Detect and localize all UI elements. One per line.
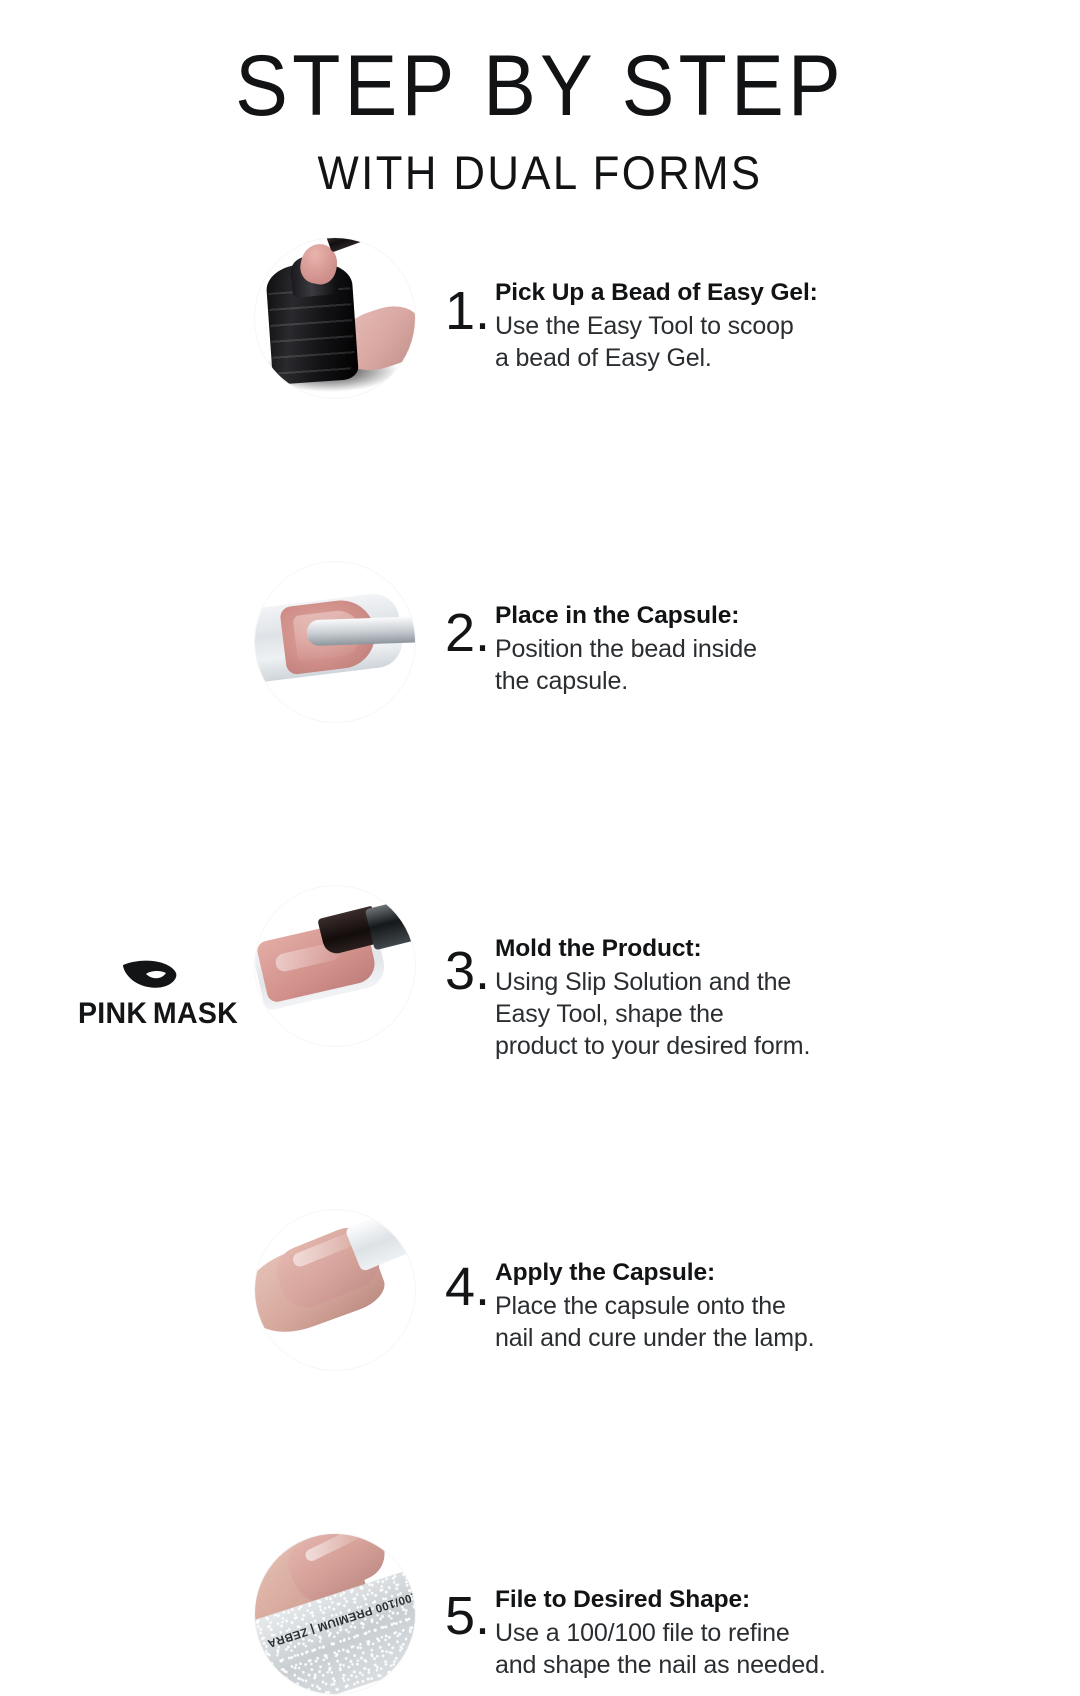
- step-number-4: 4.: [432, 1260, 490, 1314]
- step-text-1: Pick Up a Bead of Easy Gel: Use the Easy…: [495, 279, 935, 374]
- capsule-fill-scene: [255, 562, 415, 722]
- step-item-2: 2. Place in the Capsule: Position the be…: [0, 562, 1080, 724]
- step-item-1: 1. Pick Up a Bead of Easy Gel: Use the E…: [0, 238, 1080, 400]
- gel-bottle-scene: [255, 238, 415, 398]
- step-photo-2: [255, 562, 415, 722]
- header: STEP BY STEP WITH DUAL FORMS: [0, 46, 1080, 196]
- easy-tool-spatula: [326, 238, 413, 252]
- step-photo-5: 100/100 PREMIUM | ZEBRA: [255, 1534, 415, 1694]
- brand-logo: PINKMASK: [78, 957, 298, 1031]
- steps-list: 1. Pick Up a Bead of Easy Gel: Use the E…: [0, 238, 1080, 1048]
- step-number-2: 2.: [432, 606, 490, 660]
- file-nail-scene: 100/100 PREMIUM | ZEBRA: [255, 1534, 415, 1694]
- leaf-mask-icon: [120, 957, 180, 993]
- step-body-1: Use the Easy Tool to scoop a bead of Eas…: [495, 310, 935, 374]
- metal-easy-tool: [307, 616, 415, 646]
- step-text-5: File to Desired Shape: Use a 100/100 fil…: [495, 1586, 935, 1681]
- logo-word-pink: PINK: [78, 997, 147, 1030]
- step-photo-1: [255, 238, 415, 398]
- step-body-5: Use a 100/100 file to refine and shape t…: [495, 1617, 935, 1681]
- step-heading-3: Mold the Product:: [495, 935, 935, 963]
- bottle-ribs: [268, 287, 356, 379]
- step-photo-4: [255, 1210, 415, 1370]
- step-heading-2: Place in the Capsule:: [495, 602, 935, 630]
- brush-handle: [365, 896, 415, 951]
- page-title: STEP BY STEP: [43, 46, 1037, 127]
- brand-logo-text: PINKMASK: [78, 997, 287, 1031]
- poster-canvas: STEP BY STEP WITH DUAL FORMS 1. Pick Up …: [0, 0, 1080, 1080]
- step-heading-5: File to Desired Shape:: [495, 1586, 935, 1614]
- step-number-5: 5.: [432, 1589, 490, 1643]
- step-number-3: 3.: [432, 944, 490, 998]
- page-subtitle: WITH DUAL FORMS: [38, 149, 1042, 196]
- step-heading-4: Apply the Capsule:: [495, 1259, 935, 1287]
- step-body-4: Place the capsule onto the nail and cure…: [495, 1290, 935, 1354]
- logo-word-mask: MASK: [153, 997, 238, 1030]
- step-body-3: Using Slip Solution and the Easy Tool, s…: [495, 966, 935, 1062]
- apply-capsule-scene: [255, 1210, 415, 1370]
- step-number-1: 1.: [432, 284, 490, 338]
- step-text-3: Mold the Product: Using Slip Solution an…: [495, 935, 935, 1062]
- step-item-5: 100/100 PREMIUM | ZEBRA 5. File to Desir…: [0, 1534, 1080, 1696]
- step-item-4: 4. Apply the Capsule: Place the capsule …: [0, 1210, 1080, 1372]
- step-text-4: Apply the Capsule: Place the capsule ont…: [495, 1259, 935, 1354]
- step-heading-1: Pick Up a Bead of Easy Gel:: [495, 279, 935, 307]
- step-body-2: Position the bead inside the capsule.: [495, 633, 935, 697]
- step-text-2: Place in the Capsule: Position the bead …: [495, 602, 935, 697]
